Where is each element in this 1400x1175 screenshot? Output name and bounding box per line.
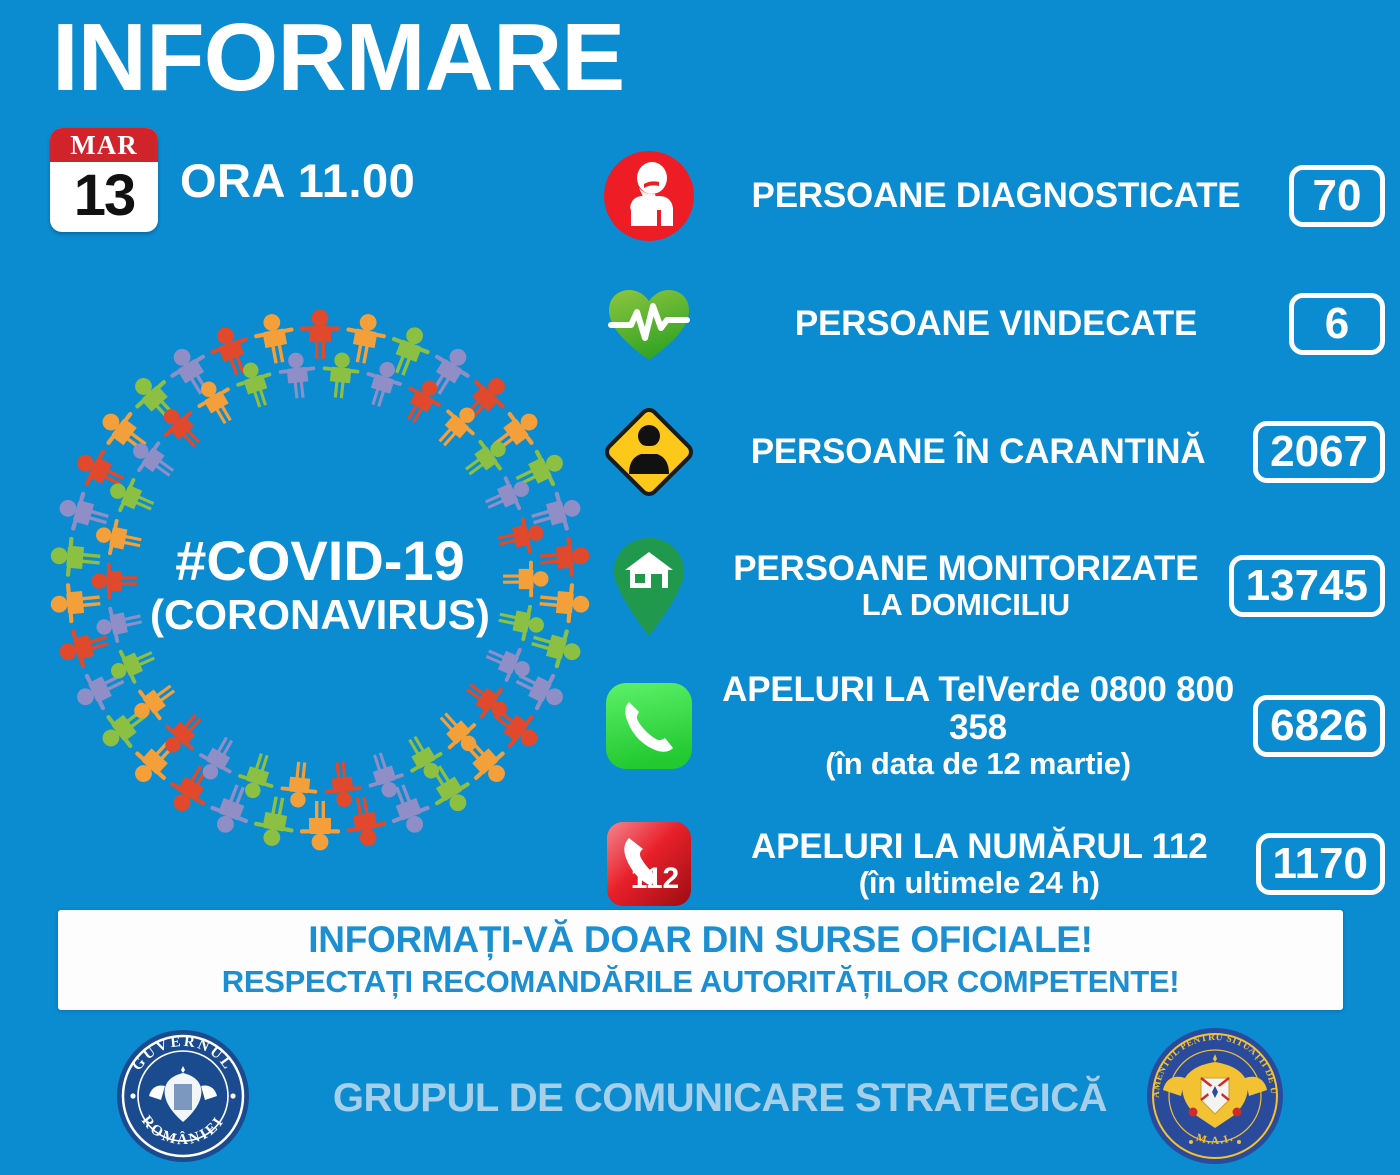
stat-value-telverde: 6826 [1253,695,1385,757]
stat-label-main: PERSOANE ÎN CARANTINĂ [751,432,1206,471]
stat-value-diagnosticate: 70 [1289,165,1385,227]
ring-person-figure [154,704,212,762]
notice-line-1: INFORMAȚI-VĂ DOAR DIN SURSE OFICIALE! [308,920,1092,961]
notice-line-2: RESPECTAȚI RECOMANDĂRILE AUTORITĂȚILOR C… [222,963,1179,1000]
stat-label-main: PERSOANE DIAGNOSTICATE [752,176,1241,215]
quarantine-warning-icon [595,396,703,508]
stat-row-telverde: APELURI LA TelVerde 0800 800 358 (în dat… [595,670,1385,782]
ring-person-figure [104,638,161,690]
stat-label: APELURI LA NUMĂRUL 112 (în ultimele 24 h… [703,828,1256,899]
calendar-icon: MAR 13 [50,128,158,232]
stat-row-diagnosticate: PERSOANE DIAGNOSTICATE 70 [595,140,1385,252]
ring-person-figure [153,398,211,456]
date-row: MAR 13 ORA 11.00 [50,128,415,232]
ring-person-figure [300,310,340,359]
stat-row-monitorizate: PERSOANE MONITORIZATE LA DOMICILIU 13745 [595,530,1385,642]
svg-text:112: 112 [631,862,679,895]
stat-value-vindecate: 6 [1289,293,1385,355]
stat-label-sub: LA DOMICILIU [709,588,1223,621]
home-pin-icon [595,530,703,642]
calendar-month: MAR [50,128,158,162]
stat-label: PERSOANE DIAGNOSTICATE [703,177,1289,215]
stat-value-112: 1170 [1256,833,1385,895]
stat-label-main: APELURI LA TelVerde 0800 800 358 [722,670,1234,747]
stat-label-sub: (în data de 12 martie) [709,747,1247,780]
stat-label-main: PERSOANE VINDECATE [795,304,1197,343]
official-sources-banner: INFORMAȚI-VĂ DOAR DIN SURSE OFICIALE! RE… [58,910,1343,1010]
heart-pulse-icon [595,268,703,380]
stat-label-main: PERSOANE MONITORIZATE [733,549,1198,588]
ring-person-figure [300,801,340,850]
ring-subtitle: (CORONAVIRUS) [40,589,600,642]
people-ring-graphic: #COVID-19 (CORONAVIRUS) [40,300,600,860]
stat-value-monitorizate: 13745 [1229,555,1385,617]
ring-person-figure [479,469,536,521]
stat-label: APELURI LA TelVerde 0800 800 358 (în dat… [703,671,1253,780]
informare-poster: INFORMARE MAR 13 ORA 11.00 #COVID-19 (CO… [0,0,1400,1175]
stat-row-vindecate: PERSOANE VINDECATE 6 [595,268,1385,380]
guvernul-romaniei-logo: GUVERNUL ROMÂNIEI [115,1026,251,1166]
ring-label: #COVID-19 (CORONAVIRUS) [40,532,600,642]
ring-person-figure [189,373,244,431]
ring-person-figure [429,703,487,761]
stat-label-sub: (în ultimele 24 h) [709,866,1250,899]
phone-112-icon: 112 [595,808,703,920]
stat-row-112: 112 APELURI LA NUMĂRUL 112 (în ultimele … [595,808,1385,920]
footer-title: GRUPUL DE COMUNICARE STRATEGICĂ [300,1076,1140,1121]
ring-person-figure [279,760,320,809]
cough-person-icon [595,140,703,252]
ring-hashtag: #COVID-19 [40,532,600,589]
ring-person-figure [428,397,486,455]
hour-label: ORA 11.00 [180,153,415,208]
footer: GUVERNUL ROMÂNIEI GRUPUL DE COMUNICARE S… [0,1020,1400,1175]
dsu-logo: DEPARTAMENTUL PENTRU SITUAȚII DE URGENȚĂ… [1145,1024,1285,1170]
stat-value-carantina: 2067 [1253,421,1385,483]
ring-person-figure [396,729,451,787]
ring-person-figure [231,357,280,412]
stat-label: PERSOANE MONITORIZATE LA DOMICILIU [703,550,1229,621]
stat-label-main: APELURI LA NUMĂRUL 112 [751,827,1208,866]
phone-green-icon [595,670,703,782]
ring-person-figure [320,351,361,400]
stat-label: PERSOANE VINDECATE [703,305,1289,343]
page-title: INFORMARE [52,8,624,109]
ring-person-figure [360,748,409,803]
calendar-day: 13 [50,162,158,232]
stat-row-carantina: PERSOANE ÎN CARANTINĂ 2067 [595,396,1385,508]
stat-label: PERSOANE ÎN CARANTINĂ [703,433,1253,471]
